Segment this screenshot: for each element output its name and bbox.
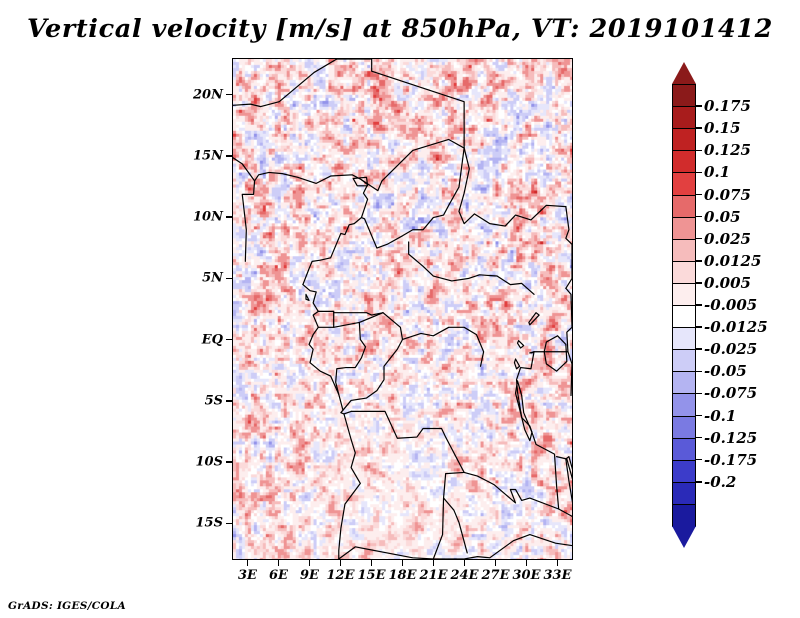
colorbar-tick-label: 0.15 <box>704 119 741 137</box>
y-tick-label: 10N <box>193 210 223 225</box>
colorbar-tick <box>696 326 702 328</box>
y-tick-label: 15S <box>196 516 223 531</box>
colorbar-tick-label: -0.125 <box>704 429 757 447</box>
colorbar-tick <box>696 437 702 439</box>
credit-text: GrADS: IGES/COLA <box>8 600 126 612</box>
colorbar-tick <box>696 459 702 461</box>
x-tick-mark <box>278 560 280 566</box>
map-boundary-line <box>566 207 572 289</box>
map-boundary-line <box>409 242 534 294</box>
colorbar-top-arrow <box>672 62 696 84</box>
page-title: Vertical velocity [m/s] at 850hPa, VT: 2… <box>0 14 800 44</box>
colorbar-tick-label: 0.0125 <box>704 252 761 270</box>
colorbar[interactable]: 0.1750.150.1250.10.0750.050.0250.01250.0… <box>672 62 696 548</box>
map-boundary-line <box>359 313 383 323</box>
colorbar-tick-label: -0.025 <box>704 340 757 358</box>
colorbar-bottom-arrow <box>672 526 696 548</box>
colorbar-swatch <box>672 106 696 130</box>
y-tick-label: EQ <box>202 332 223 347</box>
colorbar-tick-label: -0.05 <box>704 362 747 380</box>
colorbar-swatch <box>672 504 696 528</box>
colorbar-swatch <box>672 416 696 440</box>
colorbar-swatch <box>672 172 696 196</box>
x-tick-mark <box>464 560 466 566</box>
colorbar-swatch <box>672 349 696 373</box>
colorbar-swatch <box>672 393 696 417</box>
colorbar-tick <box>696 282 702 284</box>
colorbar-swatch <box>672 261 696 285</box>
map-boundary-line <box>444 498 468 553</box>
map-boundary-line <box>233 158 361 184</box>
colorbar-swatch <box>672 460 696 484</box>
colorbar-swatch <box>672 371 696 395</box>
colorbar-swatch <box>672 283 696 307</box>
map-boundary-line <box>459 148 566 226</box>
map-boundary-line <box>566 288 572 351</box>
map-boundary-line <box>306 294 309 300</box>
colorbar-tick <box>696 371 702 373</box>
map-boundary-line <box>334 322 366 394</box>
colorbar-tick <box>696 260 702 262</box>
colorbar-swatch <box>672 305 696 329</box>
map-boundary-line <box>318 311 383 315</box>
x-tick-mark <box>247 560 249 566</box>
x-tick-label: 21E <box>420 568 448 583</box>
map-boundary-line <box>566 457 572 506</box>
map-boundary-line <box>544 336 567 371</box>
colorbar-tick-label: 0.05 <box>704 208 741 226</box>
colorbar-tick <box>696 304 702 306</box>
colorbar-tick <box>696 172 702 174</box>
map-plot-area[interactable] <box>232 58 573 560</box>
colorbar-swatch <box>672 84 696 108</box>
colorbar-tick-label: 0.005 <box>704 274 751 292</box>
map-boundary-line <box>529 313 539 325</box>
map-boundary-line <box>433 535 572 559</box>
colorbar-swatch <box>672 150 696 174</box>
map-boundary-line <box>568 352 572 396</box>
map-boundary-line <box>303 285 360 559</box>
x-tick-mark <box>402 560 404 566</box>
colorbar-tick-label: 0.1 <box>704 163 730 181</box>
y-tick-label: 15N <box>193 148 223 163</box>
x-tick-mark <box>495 560 497 566</box>
colorbar-tick <box>696 481 702 483</box>
colorbar-swatch <box>672 327 696 351</box>
map-borders-overlay <box>233 59 572 559</box>
colorbar-tick-label: 0.125 <box>704 141 751 159</box>
map-boundary-line <box>514 359 519 369</box>
x-tick-mark <box>526 560 528 566</box>
map-boundary-line <box>303 180 368 285</box>
x-tick-label: 33E <box>544 568 572 583</box>
x-tick-label: 3E <box>238 568 257 583</box>
x-tick-label: 6E <box>269 568 288 583</box>
map-boundary-line <box>344 411 351 413</box>
colorbar-tick-label: 0.075 <box>704 186 751 204</box>
colorbar-tick <box>696 216 702 218</box>
colorbar-swatch <box>672 217 696 241</box>
x-tick-mark <box>371 560 373 566</box>
colorbar-swatch <box>672 128 696 152</box>
map-boundary-line <box>518 341 524 348</box>
map-boundary-line <box>233 59 337 107</box>
y-tick-label: 20N <box>193 87 223 102</box>
colorbar-swatch <box>672 482 696 506</box>
colorbar-tick-label: 0.175 <box>704 97 751 115</box>
map-boundary-line <box>361 148 464 248</box>
x-tick-label: 27E <box>482 568 510 583</box>
colorbar-tick-label: -0.1 <box>704 407 736 425</box>
x-tick-label: 24E <box>451 568 479 583</box>
colorbar-tick-label: 0.025 <box>704 230 751 248</box>
colorbar-tick <box>696 127 702 129</box>
map-boundary-line <box>337 59 464 148</box>
colorbar-tick <box>696 238 702 240</box>
colorbar-tick-label: -0.005 <box>704 296 757 314</box>
colorbar-tick <box>696 393 702 395</box>
map-boundary-line <box>339 547 434 559</box>
colorbar-swatch <box>672 239 696 263</box>
colorbar-tick <box>696 194 702 196</box>
colorbar-tick <box>696 150 702 152</box>
map-boundary-line <box>242 181 254 261</box>
map-boundary-line <box>318 313 333 328</box>
y-tick-label: 5S <box>205 393 223 408</box>
y-tick-label: 5N <box>202 271 223 286</box>
x-tick-label: 18E <box>389 568 417 583</box>
x-tick-mark <box>557 560 559 566</box>
colorbar-tick-label: -0.2 <box>704 473 736 491</box>
map-boundary-line <box>351 411 464 559</box>
colorbar-swatch <box>672 438 696 462</box>
map-boundary-line <box>361 139 464 190</box>
x-tick-mark <box>433 560 435 566</box>
colorbar-tick-label: -0.0125 <box>704 318 768 336</box>
colorbar-tick <box>696 415 702 417</box>
x-tick-label: 12E <box>327 568 355 583</box>
colorbar-tick <box>696 348 702 350</box>
map-boundary-line <box>464 352 559 509</box>
map-boundary-line <box>559 509 572 516</box>
x-tick-mark <box>309 560 311 566</box>
map-boundary-line <box>403 327 484 366</box>
y-tick-label: 10S <box>196 455 223 470</box>
colorbar-tick-label: -0.175 <box>704 451 757 469</box>
x-tick-mark <box>340 560 342 566</box>
colorbar-swatch <box>672 195 696 219</box>
x-tick-label: 30E <box>513 568 541 583</box>
x-tick-label: 15E <box>358 568 386 583</box>
map-boundary-line <box>343 313 403 411</box>
x-tick-label: 9E <box>300 568 319 583</box>
colorbar-tick-label: -0.075 <box>704 384 757 402</box>
colorbar-tick <box>696 105 702 107</box>
map-boundary-line <box>516 381 532 441</box>
